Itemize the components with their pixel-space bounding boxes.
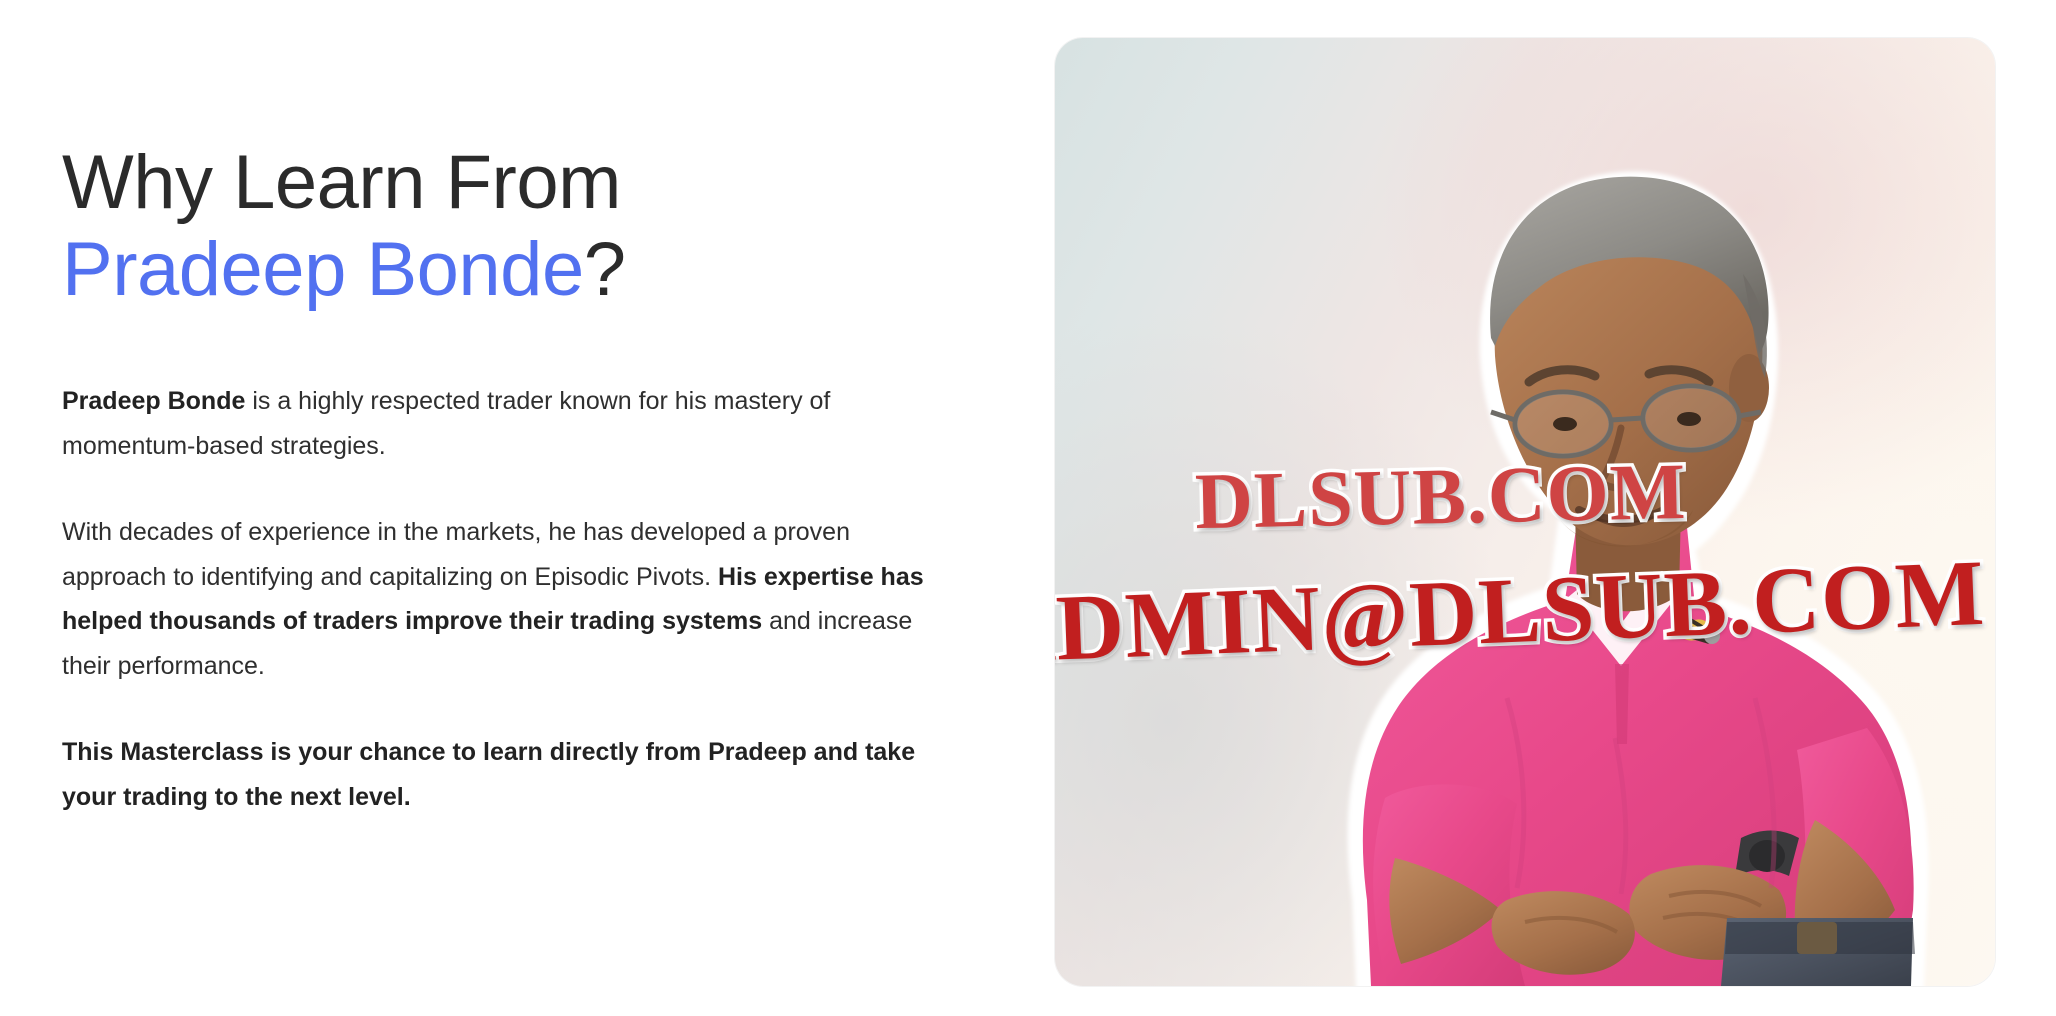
paragraph-intro-name: Pradeep Bonde bbox=[62, 387, 245, 415]
page-title: Why Learn From Pradeep Bonde? bbox=[62, 140, 962, 313]
belt-buckle bbox=[1797, 922, 1837, 954]
headline-question-mark: ? bbox=[584, 227, 626, 312]
paragraph-intro: Pradeep Bonde is a highly respected trad… bbox=[62, 379, 942, 468]
body-copy: Pradeep Bonde is a highly respected trad… bbox=[62, 379, 952, 819]
paragraph-masterclass: This Masterclass is your chance to learn… bbox=[62, 730, 942, 819]
paragraph-experience: With decades of experience in the market… bbox=[62, 510, 942, 688]
why-learn-section: Why Learn From Pradeep Bonde? Pradeep Bo… bbox=[0, 0, 2056, 1016]
text-column: Why Learn From Pradeep Bonde? Pradeep Bo… bbox=[0, 0, 1010, 1016]
eye-right bbox=[1677, 412, 1701, 426]
eye-left bbox=[1553, 417, 1577, 431]
instructor-photo-card: DLSUB.COM ADMIN@DLSUB.COM bbox=[1055, 38, 1995, 986]
headline-line-1: Why Learn From bbox=[62, 140, 621, 225]
headline-accent-name: Pradeep Bonde bbox=[62, 227, 584, 312]
wristwatch bbox=[1735, 831, 1799, 877]
instructor-photo bbox=[1055, 38, 1995, 986]
